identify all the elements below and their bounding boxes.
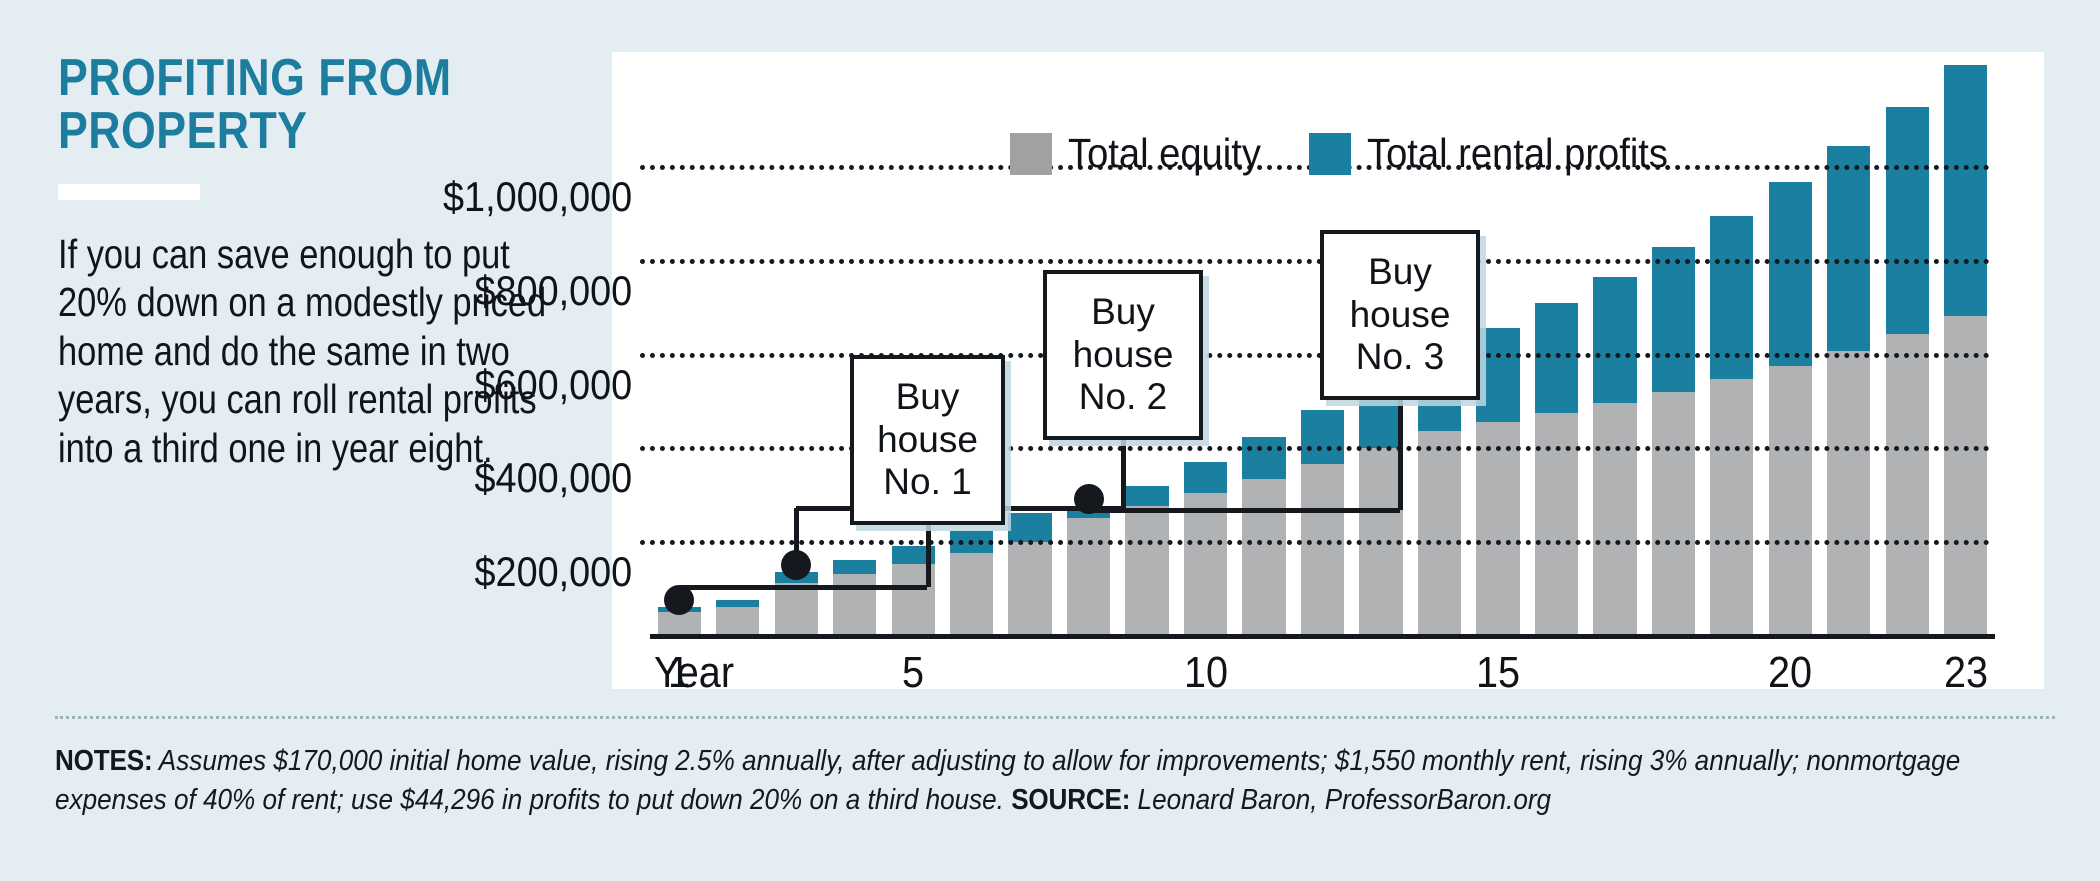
legend-item-total-rental-profits: Total rental profits	[1309, 130, 1691, 177]
callout-buy-house-1: Buy house No. 1	[850, 355, 1005, 525]
legend-label-equity: Total equity	[1068, 130, 1261, 177]
notes-divider	[55, 716, 2055, 719]
title-divider	[58, 184, 200, 200]
source-label: SOURCE:	[1011, 784, 1130, 816]
intro-paragraph: If you can save enough to put 20% down o…	[58, 230, 554, 472]
callout-anchor-dot	[1074, 484, 1104, 514]
legend-label-rental: Total rental profits	[1367, 130, 1668, 177]
legend-item-total-equity: Total equity	[1010, 130, 1275, 177]
callout-connector-segment	[1398, 400, 1403, 510]
notes-label: NOTES:	[55, 745, 153, 777]
notes-block: NOTES: Assumes $170,000 initial home val…	[55, 742, 2026, 820]
legend-swatch-icon-equity	[1010, 133, 1052, 175]
infographic-page: PROFITING FROM PROPERTY If you can save …	[0, 0, 2100, 881]
callout-connector-segment	[679, 585, 927, 590]
legend-swatch-icon-rental	[1309, 133, 1351, 175]
callout-connector-segment	[1121, 440, 1126, 508]
callout-anchor-dot	[781, 550, 811, 580]
notes-text: Assumes $170,000 initial home value, ris…	[55, 745, 1960, 816]
chart-legend: Total equity Total rental profits	[1010, 130, 1691, 177]
callout-connector-segment	[926, 525, 931, 587]
source-text: Leonard Baron, ProfessorBaron.org	[1130, 784, 1551, 816]
intro-panel: PROFITING FROM PROPERTY If you can save …	[0, 0, 600, 745]
callout-connector-segment	[1089, 508, 1400, 513]
page-title: PROFITING FROM PROPERTY	[58, 52, 488, 158]
callout-buy-house-3: Buy house No. 2	[1043, 270, 1203, 440]
callout-buy-house-8: Buy house No. 3	[1320, 230, 1480, 400]
